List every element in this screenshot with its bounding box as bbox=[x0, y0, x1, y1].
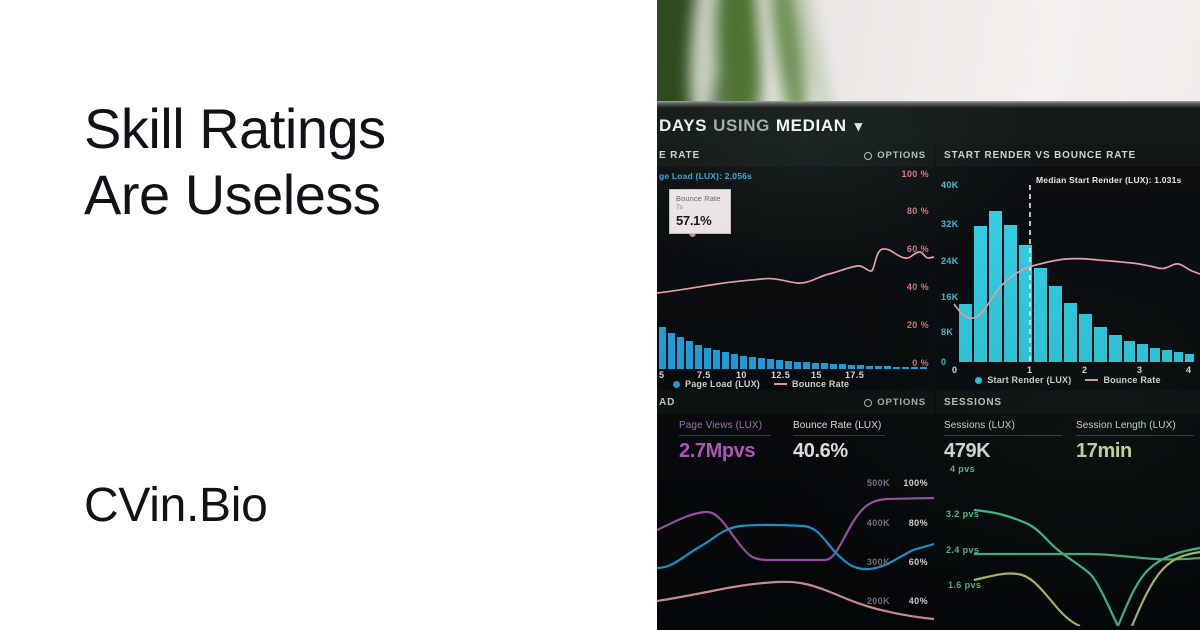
kpi-divider bbox=[1076, 435, 1194, 436]
kpi-session-length: Session Length (LUX) 17min bbox=[1076, 420, 1194, 463]
dashboard-photo: DAYS USING MEDIAN ▾ E RATE OPTIONS bbox=[657, 0, 1200, 630]
y-left-tick: 500K bbox=[867, 478, 890, 488]
options-label: OPTIONS bbox=[877, 150, 926, 161]
panel-header: START RENDER VS BOUNCE RATE bbox=[936, 144, 1200, 167]
y-right-tick: 60% bbox=[909, 557, 928, 567]
x-tick: 0 bbox=[952, 365, 957, 375]
panel-header: AD OPTIONS bbox=[657, 391, 934, 414]
panel-header: SESSIONS bbox=[936, 391, 1200, 414]
y-right-tick: 40% bbox=[909, 596, 928, 606]
panel-title: START RENDER VS BOUNCE RATE bbox=[944, 150, 1136, 161]
legend-dot-icon bbox=[975, 377, 982, 384]
panel-title: E RATE bbox=[659, 150, 700, 161]
y-tick: 8K bbox=[941, 327, 953, 337]
tooltip-value: 57.1% bbox=[676, 213, 724, 228]
legend-label: Page Load (LUX) bbox=[685, 379, 760, 389]
panel-sessions: SESSIONS Sessions (LUX) 479K Session Len… bbox=[936, 391, 1200, 630]
y-tick: 24K bbox=[941, 256, 959, 266]
monitor-bezel bbox=[657, 101, 1200, 108]
kpi-page-views: Page Views (LUX) 2.7Mpvs bbox=[679, 420, 771, 463]
options-button[interactable]: OPTIONS bbox=[864, 150, 926, 161]
y-tick: 40K bbox=[941, 180, 959, 190]
social-share-card: Skill Ratings Are Useless CVin.Bio DAYS … bbox=[0, 0, 1200, 630]
legend-item[interactable]: Start Render (LUX) bbox=[975, 375, 1071, 385]
y-tick: 60 % bbox=[907, 244, 929, 254]
options-button[interactable]: OPTIONS bbox=[864, 397, 926, 408]
y-tick: 100 % bbox=[901, 169, 929, 179]
chevron-down-icon[interactable]: ▾ bbox=[855, 117, 863, 135]
y-tick: 2.4 pvs bbox=[946, 545, 979, 555]
y-tick: 0 % bbox=[912, 358, 929, 368]
page-title: Skill Ratings Are Useless bbox=[84, 96, 386, 227]
legend-item[interactable]: Bounce Rate bbox=[1085, 375, 1160, 385]
kpi-value: 2.7Mpvs bbox=[679, 440, 771, 463]
panel-page-load: AD OPTIONS Page Views (LUX) 2.7Mpvs bbox=[657, 391, 934, 630]
kpi-value: 479K bbox=[944, 440, 1062, 463]
x-tick: 4 bbox=[1186, 365, 1191, 375]
median-page-load-annotation: ge Load (LUX): 2.056s bbox=[659, 171, 752, 181]
chart-legend: Start Render (LUX) Bounce Rate bbox=[936, 375, 1200, 385]
kpi-label: Sessions (LUX) bbox=[944, 420, 1062, 435]
brand-name: CVin.Bio bbox=[84, 478, 267, 533]
kpi-divider bbox=[679, 435, 771, 436]
legend-item[interactable]: Bounce Rate bbox=[774, 379, 849, 389]
kpi-label: Page Views (LUX) bbox=[679, 420, 771, 435]
x-tick: 3 bbox=[1137, 365, 1142, 375]
panel-body: Sessions (LUX) 479K Session Length (LUX)… bbox=[936, 414, 1200, 630]
kpi-label: Session Length (LUX) bbox=[1076, 420, 1194, 435]
legend-item[interactable]: Page Load (LUX) bbox=[673, 379, 760, 389]
legend-line-icon bbox=[1085, 379, 1098, 381]
kpi-divider bbox=[944, 435, 1062, 436]
panel-body: ge Load (LUX): 2.056s Bounce Rate 7s 57.… bbox=[657, 167, 934, 389]
kpi-row: Sessions (LUX) 479K Session Length (LUX)… bbox=[936, 414, 1200, 463]
kpi-bounce-rate: Bounce Rate (LUX) 40.6% bbox=[793, 420, 885, 463]
y-tick: 80 % bbox=[907, 206, 929, 216]
kpi-value: 40.6% bbox=[793, 440, 885, 463]
toolbar-using-label: USING bbox=[713, 116, 770, 136]
panel-body: Page Views (LUX) 2.7Mpvs Bounce Rate (LU… bbox=[657, 414, 934, 630]
legend-label: Bounce Rate bbox=[792, 379, 849, 389]
x-tick: 2 bbox=[1082, 365, 1087, 375]
tooltip-subtitle: 7s bbox=[676, 204, 724, 211]
monitor-screen: DAYS USING MEDIAN ▾ E RATE OPTIONS bbox=[657, 108, 1200, 630]
y-tick: 40 % bbox=[907, 282, 929, 292]
gear-icon bbox=[864, 399, 872, 407]
kpi-value: 17min bbox=[1076, 440, 1194, 463]
y-right-tick: 100% bbox=[903, 478, 928, 488]
y-tick: 4 pvs bbox=[950, 464, 975, 474]
y-tick: 32K bbox=[941, 219, 959, 229]
options-label: OPTIONS bbox=[877, 397, 926, 408]
legend-label: Start Render (LUX) bbox=[987, 375, 1071, 385]
panel-start-render-bounce: START RENDER VS BOUNCE RATE bbox=[936, 144, 1200, 389]
toolbar-aggregate-value[interactable]: MEDIAN bbox=[776, 116, 847, 136]
dashboard-toolbar[interactable]: DAYS USING MEDIAN ▾ bbox=[657, 108, 1200, 144]
chart-legend: Page Load (LUX) Bounce Rate bbox=[657, 379, 934, 389]
title-panel: Skill Ratings Are Useless CVin.Bio bbox=[0, 0, 657, 630]
chart-start-render-bounce[interactable] bbox=[936, 167, 1200, 389]
median-start-render-annotation: Median Start Render (LUX): 1.031s bbox=[1036, 175, 1181, 185]
y-tick: 16K bbox=[941, 292, 959, 302]
y-tick: 20 % bbox=[907, 320, 929, 330]
y-tick: 0 bbox=[941, 357, 946, 367]
kpi-row: Page Views (LUX) 2.7Mpvs Bounce Rate (LU… bbox=[657, 414, 934, 463]
panel-header: E RATE OPTIONS bbox=[657, 144, 934, 167]
panel-grid: E RATE OPTIONS bbox=[657, 144, 1200, 630]
plant-decoration bbox=[657, 0, 847, 115]
gear-icon bbox=[864, 152, 872, 160]
kpi-divider bbox=[793, 435, 885, 436]
panel-title: SESSIONS bbox=[944, 397, 1002, 408]
panel-title: AD bbox=[659, 397, 675, 408]
legend-label: Bounce Rate bbox=[1103, 375, 1160, 385]
y-left-tick: 400K bbox=[867, 518, 890, 528]
chart-page-load-trends[interactable] bbox=[657, 472, 934, 622]
y-left-tick: 300K bbox=[867, 557, 890, 567]
y-left-tick: 200K bbox=[867, 596, 890, 606]
chart-tooltip: Bounce Rate 7s 57.1% bbox=[669, 189, 731, 234]
panel-page-load-bounce: E RATE OPTIONS bbox=[657, 144, 934, 389]
panel-body: Median Start Render (LUX): 1.031s 40K 32… bbox=[936, 167, 1200, 389]
tooltip-title: Bounce Rate bbox=[676, 194, 724, 203]
kpi-sessions: Sessions (LUX) 479K bbox=[944, 420, 1062, 463]
y-tick: 1.6 pvs bbox=[948, 580, 981, 590]
x-tick: 1 bbox=[1027, 365, 1032, 375]
legend-line-icon bbox=[774, 383, 787, 385]
y-tick: 3.2 pvs bbox=[946, 509, 979, 519]
toolbar-days-label: DAYS bbox=[659, 116, 707, 136]
kpi-label: Bounce Rate (LUX) bbox=[793, 420, 885, 435]
legend-dot-icon bbox=[673, 381, 680, 388]
y-right-tick: 80% bbox=[909, 518, 928, 528]
